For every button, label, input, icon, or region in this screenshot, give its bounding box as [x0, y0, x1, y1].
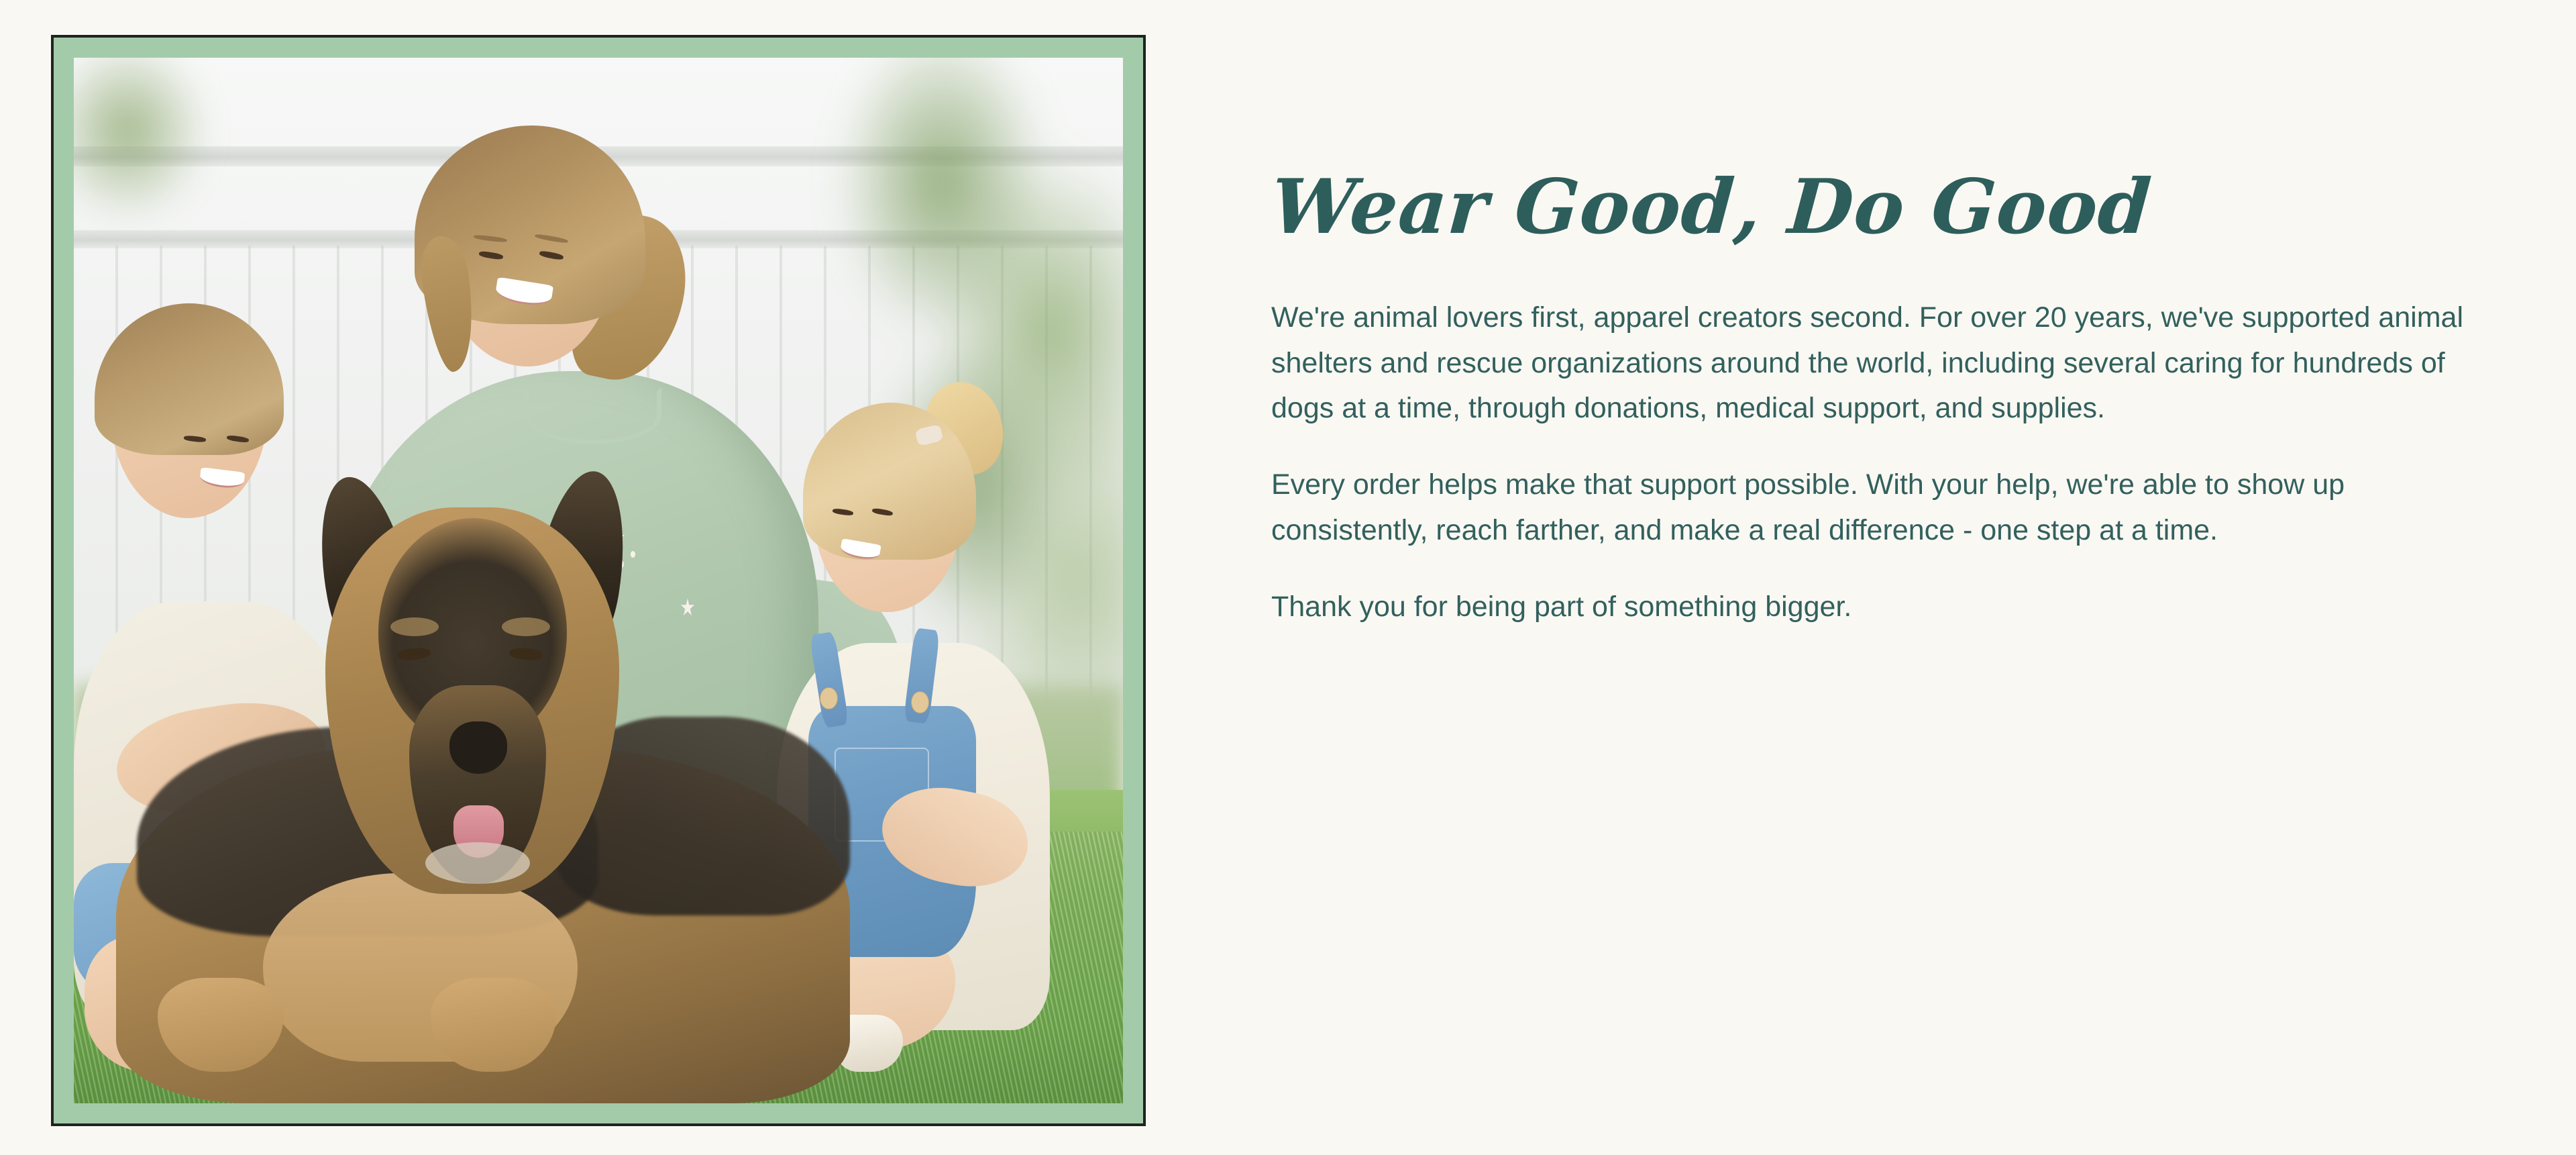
dog-chin — [425, 842, 530, 884]
sparkle-dot — [631, 551, 635, 557]
paragraph-impact: Every order helps make that support poss… — [1271, 462, 2479, 554]
page-title: Wear Good, Do Good — [1269, 168, 2502, 247]
dog-nose — [449, 721, 507, 774]
dog-brow-left — [390, 617, 439, 636]
paragraph-thanks: Thank you for being part of something bi… — [1271, 585, 2479, 630]
dog-brow-right — [502, 617, 550, 636]
about-us-section: Wear Good, Do Good We're animal lovers f… — [0, 0, 2576, 1155]
family-with-dog-photo — [74, 58, 1123, 1103]
star-icon — [681, 598, 695, 617]
about-text-column: Wear Good, Do Good We're animal lovers f… — [1271, 168, 2499, 630]
girl-overall-button — [911, 691, 929, 713]
girl-overall-button — [820, 687, 838, 709]
photo-frame — [51, 35, 1146, 1126]
woman-neckline — [525, 387, 661, 445]
foliage-left — [74, 58, 231, 256]
paragraph-mission: We're animal lovers first, apparel creat… — [1271, 295, 2479, 432]
